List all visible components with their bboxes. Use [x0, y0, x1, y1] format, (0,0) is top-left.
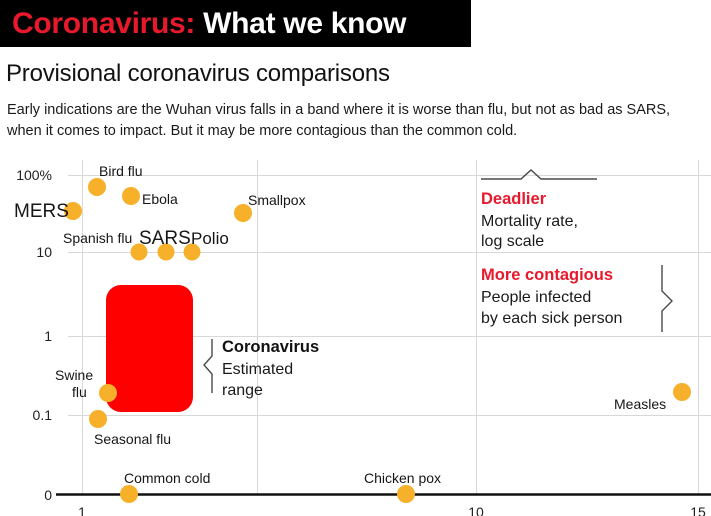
label-chicken-pox: Chicken pox — [364, 470, 441, 486]
deadlier-line-1: Mortality rate, — [481, 213, 578, 230]
point-seasonal-flu[interactable] — [89, 410, 107, 428]
contagious-line-2: by each sick person — [481, 310, 622, 327]
contagious-heading: More contagious — [481, 266, 613, 284]
y-tick-0-1: 0.1 — [33, 407, 53, 423]
y-tick-1: 1 — [44, 328, 52, 344]
coronavirus-bracket-icon — [204, 339, 212, 393]
point-ebola[interactable] — [122, 187, 140, 205]
article-banner: Coronavirus: What we know — [0, 0, 471, 47]
contagious-line-1: People infected — [481, 289, 591, 306]
label-smallpox: Smallpox — [248, 192, 306, 208]
x-tick-10: 10 — [468, 504, 484, 516]
label-swine-flu-1: Swine — [55, 367, 93, 383]
point-measles[interactable] — [673, 383, 691, 401]
coronavirus-line-1: Estimated — [222, 361, 293, 378]
contagious-bracket-icon — [662, 265, 672, 332]
y-tick-10: 10 — [36, 244, 52, 260]
banner-title-white: What we know — [195, 7, 406, 41]
coronavirus-line-2: range — [222, 382, 263, 399]
point-common-cold[interactable] — [120, 485, 138, 503]
label-bird-flu: Bird flu — [99, 163, 143, 179]
label-sars: SARS — [139, 228, 191, 249]
y-tick-100: 100% — [16, 167, 52, 183]
scatter-chart: 100% 10 1 0.1 0 1 10 15 MERS Bird flu — [0, 160, 711, 516]
label-mers: MERS — [14, 201, 69, 222]
label-ebola: Ebola — [142, 191, 178, 207]
x-tick-1: 1 — [78, 504, 86, 516]
banner-title-red: Coronavirus: — [12, 7, 195, 41]
coronavirus-heading: Coronavirus — [222, 338, 319, 356]
label-swine-flu-2: flu — [72, 384, 87, 400]
page-title: Provisional coronavirus comparisons — [6, 60, 390, 88]
label-seasonal-flu: Seasonal flu — [94, 431, 171, 447]
point-bird-flu[interactable] — [88, 178, 106, 196]
point-chicken-pox[interactable] — [397, 485, 415, 503]
label-spanish-flu: Spanish flu — [63, 230, 132, 246]
label-measles: Measles — [614, 396, 666, 412]
x-tick-15: 15 — [690, 504, 706, 516]
standfirst-text: Early indications are the Wuhan virus fa… — [7, 100, 707, 142]
label-common-cold: Common cold — [124, 470, 210, 486]
deadlier-heading: Deadlier — [481, 190, 547, 208]
deadlier-bracket-icon — [481, 170, 597, 179]
point-swine-flu[interactable] — [99, 384, 117, 402]
label-polio: Polio — [191, 229, 229, 248]
deadlier-line-2: log scale — [481, 233, 544, 250]
coronavirus-range-band — [106, 285, 193, 412]
y-tick-0: 0 — [44, 487, 52, 503]
